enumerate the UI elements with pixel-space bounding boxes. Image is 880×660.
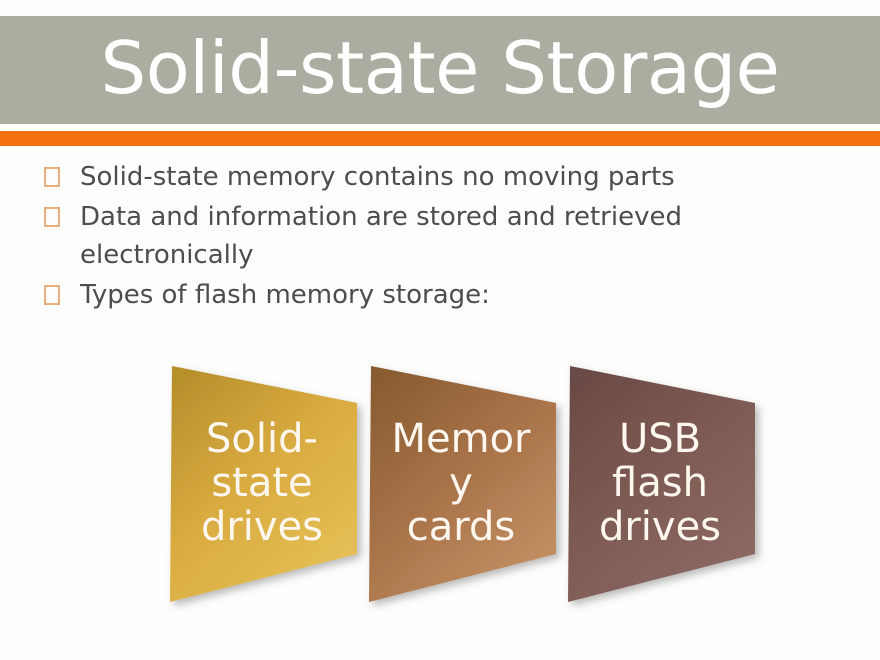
shape-label-line1: Memor [391,416,531,462]
page-title: Solid-state Storage [101,30,780,110]
accent-divider [0,131,880,146]
shape-label-line3: cards [407,504,515,550]
shape-label-line2: flash [612,460,708,506]
bullet-box-icon [44,207,60,227]
list-item-label: Solid-state memory contains no moving pa… [80,158,675,196]
shape-label-line3: drives [599,504,721,550]
list-item-label: Types of flash memory storage: [80,276,490,314]
list-item: Data and information are stored and retr… [44,198,844,274]
shape-label-line1: USB [619,416,701,462]
shape-solid-state-drives[interactable]: Solid- state drives [170,366,357,602]
shape-label-line1: Solid- [206,416,318,462]
slide-canvas: Solid-state Storage Solid-state memory c… [0,0,880,660]
shape-memory-cards[interactable]: Memor y cards [369,366,556,602]
shape-label-line2: y [449,460,473,506]
list-item: Types of flash memory storage: [44,276,844,314]
shape-label-line2: state [211,460,312,506]
list-item: Solid-state memory contains no moving pa… [44,158,844,196]
shape-usb-flash-drives[interactable]: USB flash drives [568,366,755,602]
bullet-box-icon [44,285,60,305]
bullet-box-icon [44,167,60,187]
bullet-list: Solid-state memory contains no moving pa… [44,158,844,316]
list-item-label: Data and information are stored and retr… [80,198,780,274]
shape-label-line3: drives [201,504,323,550]
title-band: Solid-state Storage [0,16,880,124]
